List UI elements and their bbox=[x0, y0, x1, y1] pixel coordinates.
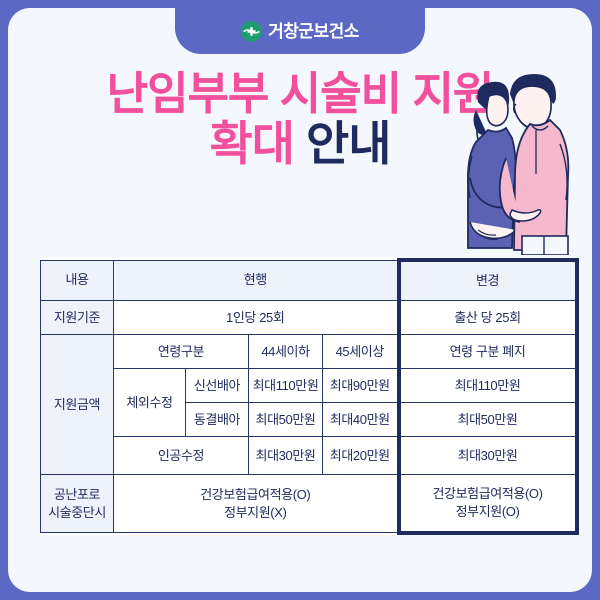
current-fresh-under44: 최대110만원 bbox=[249, 369, 323, 403]
comparison-table: 내용 현행 변경 지원기준 1인당 25회 출산 당 25회 지원금액 연령구분 bbox=[40, 258, 579, 535]
medical-cross-circle-icon bbox=[241, 21, 262, 42]
current-support-criteria: 1인당 25회 bbox=[114, 301, 399, 335]
row-label-empty-follicle-line1: 공난포로 bbox=[43, 486, 111, 504]
sub-label-ivf: 체외수정 bbox=[114, 369, 186, 437]
row-label-empty-follicle: 공난포로 시술중단시 bbox=[41, 475, 114, 533]
sub-label-fresh-embryo: 신선배아 bbox=[186, 369, 249, 403]
poster-root: 거창군보건소 난임부부 시술비 지원 확대 안내 bbox=[0, 0, 600, 600]
table-header-row: 내용 현행 변경 bbox=[41, 260, 577, 301]
header-content: 내용 bbox=[41, 260, 114, 301]
changed-empty-follicle-line2: 정부지원(O) bbox=[403, 503, 573, 521]
row-label-support-amount: 지원금액 bbox=[41, 335, 114, 475]
changed-support-criteria: 출산 당 25회 bbox=[399, 301, 577, 335]
changed-frozen-embryo: 최대50만원 bbox=[399, 403, 577, 437]
couple-illustration bbox=[448, 60, 578, 255]
poster-panel: 거창군보건소 난임부부 시술비 지원 확대 안내 bbox=[8, 8, 592, 592]
header-changed: 변경 bbox=[399, 260, 577, 301]
sub-label-frozen-embryo: 동결배아 bbox=[186, 403, 249, 437]
org-banner: 거창군보건소 bbox=[175, 8, 425, 54]
current-frozen-under44: 최대50만원 bbox=[249, 403, 323, 437]
title-highlight-word: 확대 bbox=[209, 117, 293, 170]
table-row-iui: 인공수정 최대30만원 최대20만원 최대30만원 bbox=[41, 437, 577, 475]
header-current: 현행 bbox=[114, 260, 399, 301]
comparison-table-wrap: 내용 현행 변경 지원기준 1인당 25회 출산 당 25회 지원금액 연령구분 bbox=[40, 258, 576, 535]
current-age-over45: 45세이상 bbox=[323, 335, 399, 369]
current-frozen-over45: 최대40만원 bbox=[323, 403, 399, 437]
current-age-under44: 44세이하 bbox=[249, 335, 323, 369]
sub-label-age-group: 연령구분 bbox=[114, 335, 249, 369]
sub-label-iui: 인공수정 bbox=[114, 437, 249, 475]
current-empty-follicle: 건강보험급여적용(O) 정부지원(X) bbox=[114, 475, 399, 533]
table-row-age-group: 지원금액 연령구분 44세이하 45세이상 연령 구분 폐지 bbox=[41, 335, 577, 369]
current-iui-under44: 최대30만원 bbox=[249, 437, 323, 475]
row-label-empty-follicle-line2: 시술중단시 bbox=[43, 504, 111, 522]
table-row-support-criteria: 지원기준 1인당 25회 출산 당 25회 bbox=[41, 301, 577, 335]
changed-fresh-embryo: 최대110만원 bbox=[399, 369, 577, 403]
changed-empty-follicle: 건강보험급여적용(O) 정부지원(O) bbox=[399, 475, 577, 533]
title-rest-word: 안내 bbox=[306, 117, 390, 170]
changed-iui: 최대30만원 bbox=[399, 437, 577, 475]
changed-age-group: 연령 구분 폐지 bbox=[399, 335, 577, 369]
current-fresh-over45: 최대90만원 bbox=[323, 369, 399, 403]
current-empty-follicle-line1: 건강보험급여적용(O) bbox=[116, 486, 395, 504]
table-row-empty-follicle: 공난포로 시술중단시 건강보험급여적용(O) 정부지원(X) 건강보험급여적용(… bbox=[41, 475, 577, 533]
org-name-label: 거창군보건소 bbox=[268, 23, 359, 40]
table-row-fresh-embryo: 체외수정 신선배아 최대110만원 최대90만원 최대110만원 bbox=[41, 369, 577, 403]
row-label-support-criteria: 지원기준 bbox=[41, 301, 114, 335]
current-empty-follicle-line2: 정부지원(X) bbox=[116, 504, 395, 522]
current-iui-over45: 최대20만원 bbox=[323, 437, 399, 475]
changed-empty-follicle-line1: 건강보험급여적용(O) bbox=[403, 485, 573, 503]
